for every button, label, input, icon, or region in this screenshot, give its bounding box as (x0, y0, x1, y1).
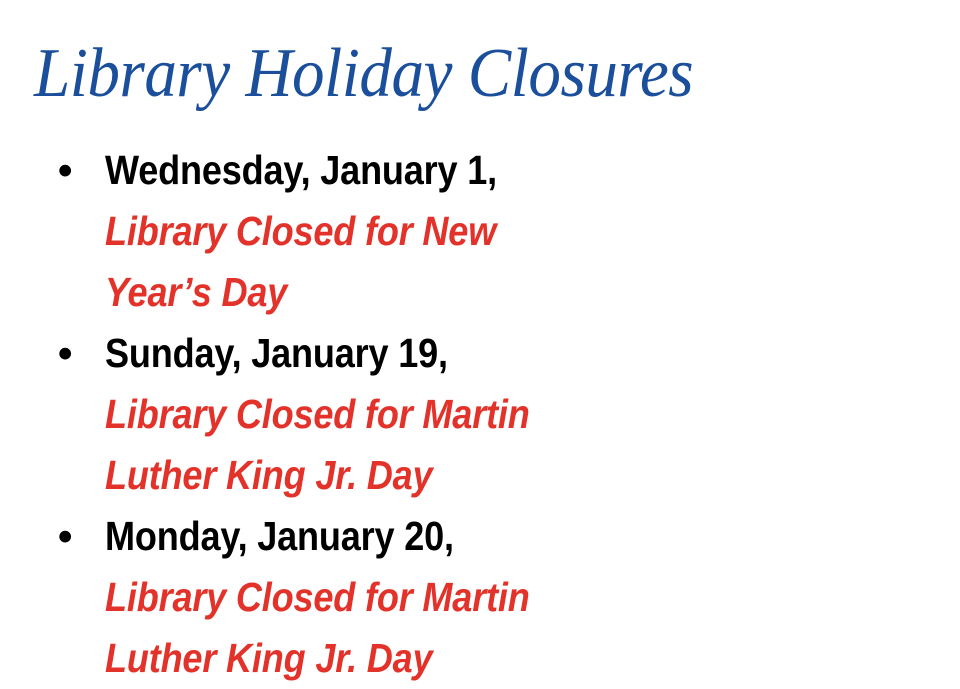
bullet-point-icon: • (58, 506, 76, 567)
closure-description-line-2: Year’s Day (105, 262, 287, 323)
slide-canvas: Library Holiday Closures • Wednesday, Ja… (0, 0, 960, 540)
closure-description-line-2: Luther King Jr. Day (105, 628, 432, 689)
list-item-line-2: Luther King Jr. Day (105, 445, 942, 506)
list-item-line-2: Year’s Day (105, 262, 942, 323)
closure-description-line-1: Library Closed for Martin (105, 384, 530, 445)
bullet-point-icon: • (58, 323, 76, 384)
holiday-closure-list: • Wednesday, January 1, Library Closed f… (0, 140, 960, 689)
list-item-line-2: Luther King Jr. Day (105, 628, 942, 689)
closure-date: Wednesday, January 1, (105, 140, 507, 201)
closure-description-line-1: Library Closed for Martin (105, 567, 530, 628)
list-item-line-1: Sunday, January 19, Library Closed for M… (105, 323, 942, 445)
list-item: • Wednesday, January 1, Library Closed f… (0, 140, 960, 323)
page-title: Library Holiday Closures (34, 36, 862, 112)
closure-date: Sunday, January 19, (105, 323, 458, 384)
closure-description-line-1: Library Closed for New (105, 201, 496, 262)
closure-date: Monday, January 20, (105, 506, 464, 567)
list-item-line-1: Wednesday, January 1, Library Closed for… (105, 140, 942, 262)
list-item-line-1: Monday, January 20, Library Closed for M… (105, 506, 942, 628)
closure-description-line-2: Luther King Jr. Day (105, 445, 432, 506)
bullet-point-icon: • (58, 140, 76, 201)
list-item: • Monday, January 20, Library Closed for… (0, 506, 960, 689)
list-item: • Sunday, January 19, Library Closed for… (0, 323, 960, 506)
